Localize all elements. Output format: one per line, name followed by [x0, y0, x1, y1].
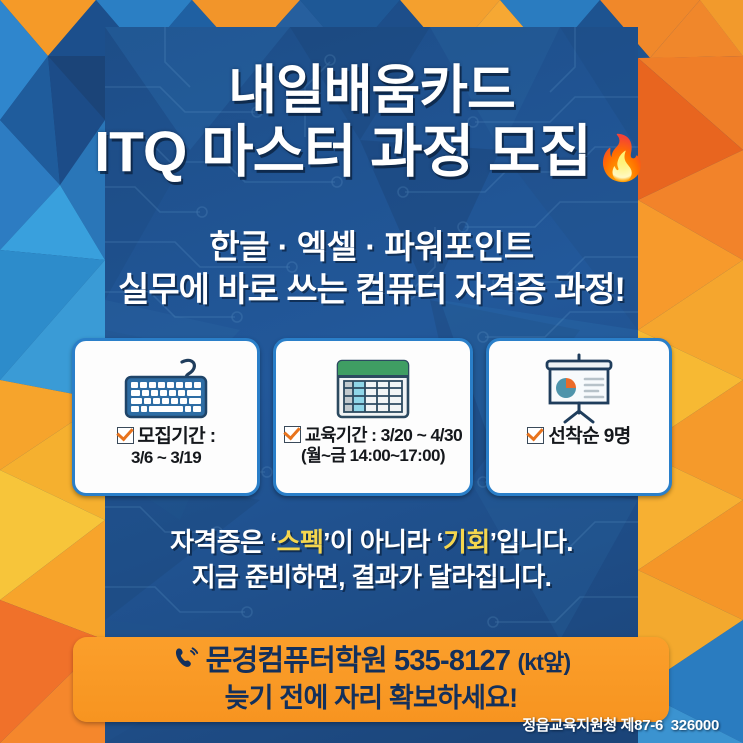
info-card-main-label-0: 모집기간 :	[138, 426, 216, 447]
subtitle-block: 한글 · 엑셀 · 파워포인트 실무에 바로 쓰는 컴퓨터 자격증 과정!	[0, 227, 743, 310]
info-card-sub-0: 3/6 ~ 3/19	[79, 448, 253, 469]
info-card-main-0: 모집기간 :	[79, 425, 253, 448]
headline-line-2-text: ITQ 마스터 과정 모집	[94, 120, 591, 184]
keyboard-icon-svg	[120, 356, 212, 422]
contact-cta-line: 늦기 전에 자리 확보하세요!	[225, 683, 518, 715]
phone-icon	[172, 645, 200, 681]
contact-phone-line[interactable]: 문경컴퓨터학원 535-8127 (kt앞)	[172, 644, 571, 681]
checkbox-icon-0	[117, 427, 134, 444]
subtitle-line-2: 실무에 바로 쓰는 컴퓨터 자격증 과정!	[0, 270, 743, 311]
info-card-main-1: 교육기간 : 3/20 ~ 4/30	[280, 425, 466, 446]
motto-block: 자격증은 ‘스펙’이 아니라 ‘기회’입니다. 지금 준비하면, 결과가 달라집…	[0, 525, 743, 595]
info-card-row: 모집기간 : 3/6 ~ 3/19	[72, 338, 672, 496]
info-card-seat-limit: 선착순 9명	[486, 338, 672, 496]
info-card-main-label-1: 교육기간 : 3/20 ~ 4/30	[305, 425, 462, 445]
info-card-training-period: 교육기간 : 3/20 ~ 4/30 (월~금 14:00~17:00)	[273, 338, 473, 496]
presentation-chart-icon-svg	[535, 353, 623, 425]
spreadsheet-icon-svg	[334, 357, 412, 421]
headline-line-2: ITQ 마스터 과정 모집🔥	[0, 122, 743, 183]
headline-block: 내일배움카드 ITQ 마스터 과정 모집🔥	[0, 63, 743, 183]
keyboard-icon	[120, 353, 212, 425]
info-card-text-2: 선착순 9명	[489, 425, 669, 448]
info-card-recruitment-period: 모집기간 : 3/6 ~ 3/19	[72, 338, 260, 496]
motto-highlight-2: 기회	[443, 527, 490, 557]
motto-line-2: 지금 준비하면, 결과가 달라집니다.	[0, 560, 743, 595]
motto-seg-c: ’입니다.	[490, 527, 573, 557]
info-card-text-1: 교육기간 : 3/20 ~ 4/30 (월~금 14:00~17:00)	[276, 425, 470, 467]
info-card-main-2: 선착순 9명	[493, 425, 665, 448]
motto-highlight-1: 스펙	[277, 527, 324, 557]
motto-line-1: 자격증은 ‘스펙’이 아니라 ‘기회’입니다.	[0, 525, 743, 560]
checkbox-icon-1	[284, 426, 301, 443]
phone-icon-svg	[172, 645, 200, 673]
presentation-chart-icon	[535, 353, 623, 425]
checkbox-icon-2	[527, 427, 544, 444]
info-card-sub-1: (월~금 14:00~17:00)	[280, 446, 466, 467]
motto-seg-b: ’이 아니라 ‘	[323, 527, 443, 557]
info-card-text-0: 모집기간 : 3/6 ~ 3/19	[75, 425, 257, 469]
promotional-poster: 내일배움카드 ITQ 마스터 과정 모집🔥 한글 · 엑셀 · 파워포인트 실무…	[0, 0, 743, 743]
spreadsheet-icon	[334, 353, 412, 425]
headline-line-1: 내일배움카드	[0, 63, 743, 120]
contact-banner[interactable]: 문경컴퓨터학원 535-8127 (kt앞) 늦기 전에 자리 확보하세요!	[73, 637, 669, 722]
subtitle-line-1: 한글 · 엑셀 · 파워포인트	[0, 227, 743, 267]
contact-location-note: (kt앞)	[517, 649, 570, 675]
fire-icon: 🔥	[595, 134, 649, 183]
footer-registration-text: 정읍교육지원청 제87-6 326000	[522, 714, 719, 735]
motto-seg-a: 자격증은 ‘	[170, 527, 277, 557]
contact-phone-text: 문경컴퓨터학원 535-8127	[206, 645, 511, 677]
info-card-main-label-2: 선착순 9명	[548, 426, 630, 447]
